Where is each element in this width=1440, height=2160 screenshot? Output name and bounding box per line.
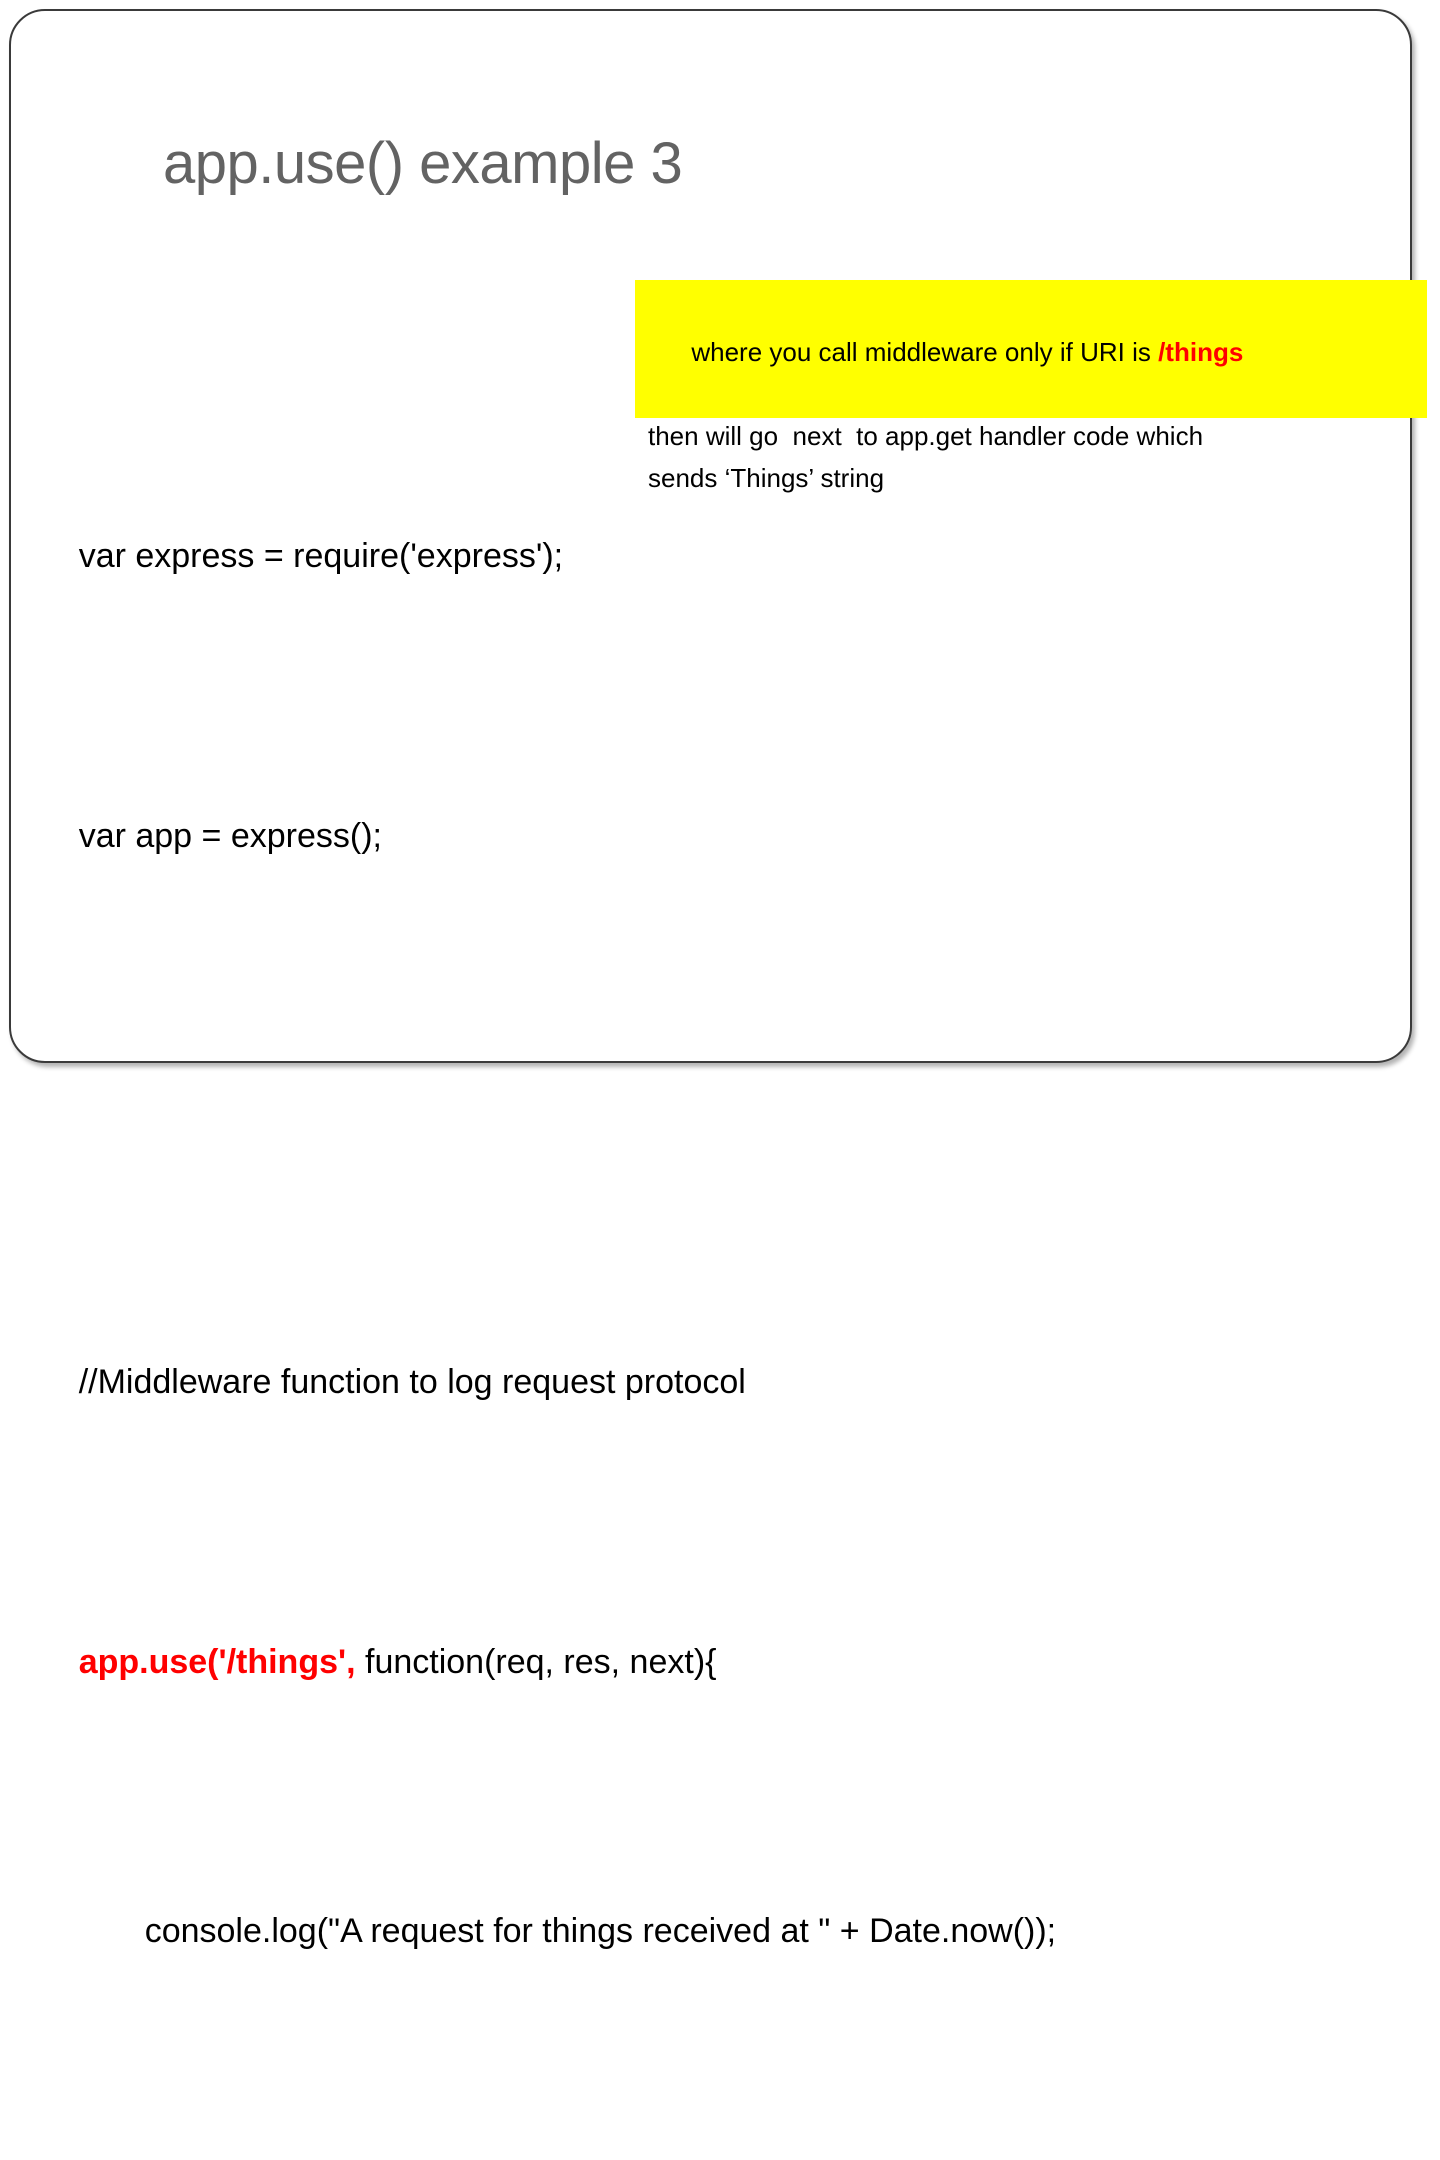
code-line-next: next(); }); [22, 2110, 1412, 2160]
callout-line-2: then will go next to app.get handler cod… [648, 415, 1427, 457]
code-text: //Middleware function to log request pro… [79, 1363, 746, 1401]
code-token-app-use-highlight: app.use('/things', [79, 1643, 356, 1681]
code-line-app-use: app.use('/things', function(req, res, ne… [22, 1557, 1412, 1627]
annotation-callout: where you call middleware only if URI is… [635, 280, 1427, 418]
callout-line-1: where you call middleware only if URI is… [648, 289, 1427, 415]
callout-highlight-things: /things [1158, 337, 1243, 367]
code-line-console-log: console.log("A request for things receiv… [22, 1837, 1412, 1900]
code-block: var express = require('express'); var ap… [22, 241, 1412, 2160]
code-text: var express = require('express'); [79, 537, 563, 575]
code-line-comment-middleware: //Middleware function to log request pro… [22, 1277, 1412, 1347]
code-text: var app = express(); [79, 817, 382, 855]
callout-text: where you call middleware only if URI is [691, 337, 1158, 367]
code-line-app-init: var app = express(); [22, 731, 1412, 801]
callout-line-3: sends ‘Things’ string [648, 457, 1427, 499]
code-text: function(req, res, next){ [356, 1643, 717, 1681]
slide-canvas: app.use() example 3 var express = requir… [0, 0, 1440, 1080]
code-line-blank-1 [22, 1011, 1412, 1067]
code-text: console.log("A request for things receiv… [145, 1912, 1056, 1950]
page-title: app.use() example 3 [163, 129, 682, 199]
